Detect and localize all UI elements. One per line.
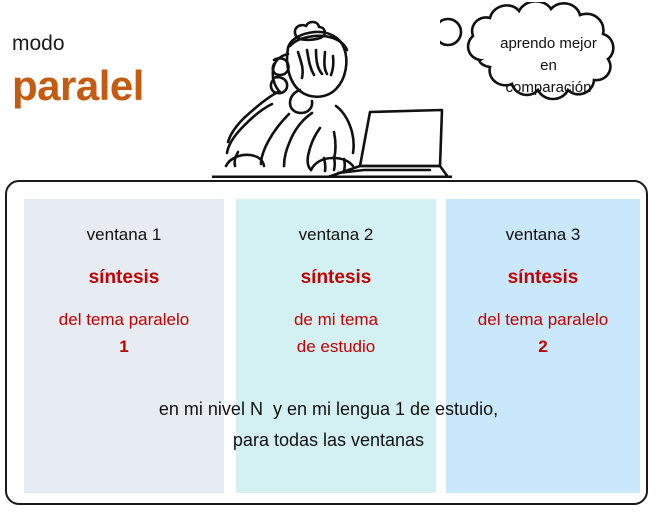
header-section: modo paralel	[0, 0, 657, 178]
thought-bubble-text: aprendo mejor en comparación	[466, 33, 631, 99]
panel-footer-note-line-2: para todas las ventanas	[7, 425, 650, 456]
window-description-3-line-1: del tema paralelo	[478, 310, 608, 329]
window-description-1: del tema paralelo 1	[24, 306, 224, 360]
thought-bubble-line-3: comparación	[506, 79, 592, 96]
window-description-1-line-2: 1	[119, 337, 128, 356]
windows-panel: ventana 1 síntesis del tema paralelo 1 v…	[5, 180, 648, 505]
panel-footer-note: en mi nivel N y en mi lengua 1 de estudi…	[7, 394, 650, 456]
panel-footer-note-line-1: en mi nivel N y en mi lengua 1 de estudi…	[7, 394, 650, 425]
window-label-1: ventana 1	[24, 225, 224, 245]
thought-bubble-line-1: aprendo mejor	[500, 35, 597, 52]
window-description-2-line-1: de mi tema	[294, 310, 378, 329]
person-studying-at-laptop-icon	[212, 0, 452, 178]
window-synthesis-1: síntesis	[24, 267, 224, 289]
mode-label: modo	[12, 32, 65, 56]
window-description-2-line-2: de estudio	[297, 337, 375, 356]
windows-columns: ventana 1 síntesis del tema paralelo 1 v…	[7, 182, 650, 507]
window-label-3: ventana 3	[446, 225, 640, 245]
window-description-3: del tema paralelo 2	[446, 306, 640, 360]
window-synthesis-3: síntesis	[446, 267, 640, 289]
window-label-2: ventana 2	[236, 225, 436, 245]
window-description-3-line-2: 2	[538, 337, 547, 356]
window-description-1-line-1: del tema paralelo	[59, 310, 189, 329]
mode-title: paralel	[12, 62, 144, 110]
thought-bubble-line-2: en	[540, 57, 557, 74]
window-description-2: de mi tema de estudio	[236, 306, 436, 360]
window-synthesis-2: síntesis	[236, 267, 436, 289]
